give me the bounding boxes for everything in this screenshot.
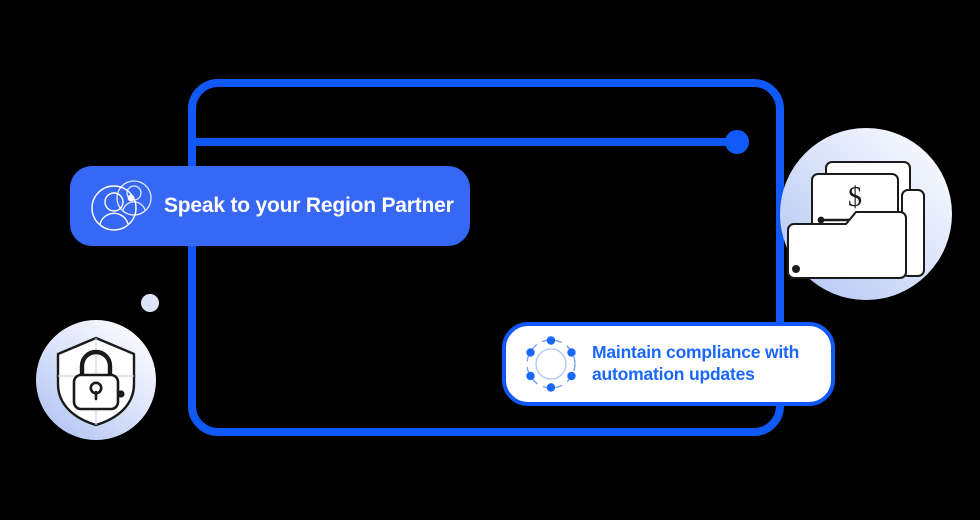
card-region-partner[interactable]: Speak to your Region Partner [70, 166, 470, 246]
orbit-network-icon [520, 333, 582, 395]
horizontal-connector-line [192, 130, 749, 154]
card-compliance-label-line-1: Maintain compliance with [592, 342, 799, 362]
card-compliance-label: Maintain compliance with automation upda… [592, 342, 799, 386]
connector-endpoint-dot [725, 130, 749, 154]
decorative-dot [141, 294, 159, 312]
illustration-canvas: $ [0, 0, 980, 520]
card-compliance-label-line-2: automation updates [592, 364, 755, 384]
card-region-partner-label: Speak to your Region Partner [164, 194, 454, 218]
documents-badge: $ [780, 128, 952, 300]
shield-lock-icon [58, 338, 134, 425]
two-people-icon [90, 175, 152, 237]
dollar-glyph: $ [848, 182, 862, 213]
card-compliance-automation[interactable]: Maintain compliance with automation upda… [502, 322, 835, 406]
security-badge [36, 320, 156, 440]
